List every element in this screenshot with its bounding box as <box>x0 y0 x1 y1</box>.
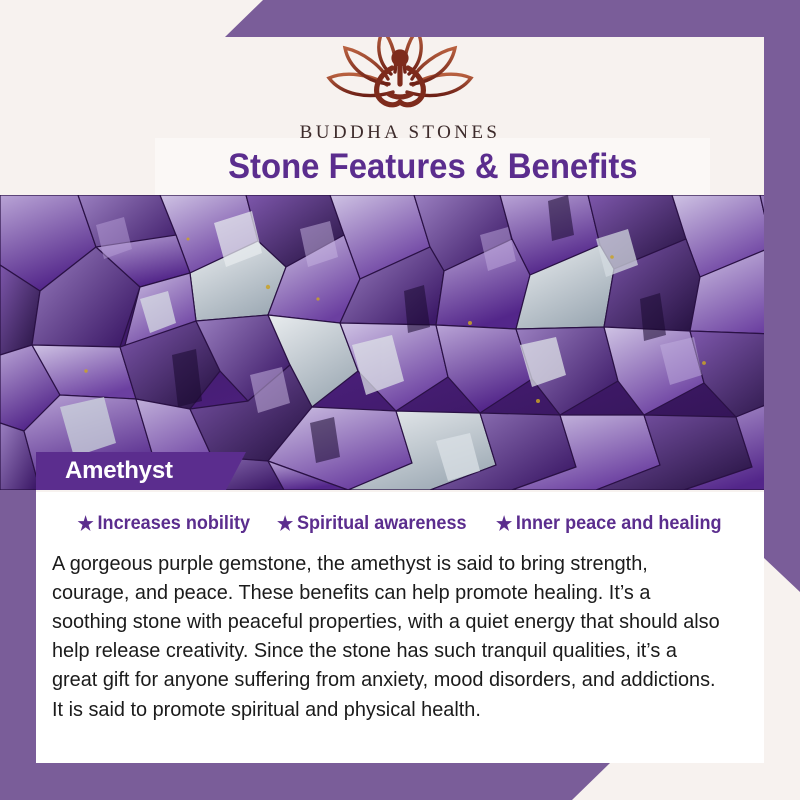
star-icon: ★ <box>496 515 512 534</box>
star-icon: ★ <box>77 515 93 534</box>
benefit-label-3: Inner peace and healing <box>516 513 722 535</box>
benefit-item-1: ★ Increases nobility <box>77 513 249 535</box>
content-area: ★ Increases nobility ★ Spiritual awarene… <box>36 492 764 763</box>
frame-band-top <box>225 0 800 37</box>
star-icon: ★ <box>277 515 293 534</box>
page-title: Stone Features & Benefits <box>228 147 638 187</box>
benefits-list: ★ Increases nobility ★ Spiritual awarene… <box>36 492 764 535</box>
benefit-label-1: Increases nobility <box>97 513 249 535</box>
amethyst-photo <box>0 195 800 490</box>
frame-band-bottom <box>0 763 610 800</box>
benefit-item-2: ★ Spiritual awareness <box>277 513 467 535</box>
benefit-item-3: ★ Inner peace and healing <box>496 513 722 535</box>
benefit-label-2: Spiritual awareness <box>297 513 467 535</box>
stone-name-banner: Amethyst <box>36 452 246 490</box>
amethyst-crystal-cluster-graphic <box>0 195 800 490</box>
title-banner: Stone Features & Benefits <box>155 138 710 195</box>
stone-features-infographic: BUDDHA STONES <box>0 0 800 800</box>
stone-description: A gorgeous purple gemstone, the amethyst… <box>52 549 725 724</box>
frame-band-right <box>764 0 800 592</box>
stone-name-label: Amethyst <box>65 457 173 485</box>
frame-band-left <box>0 490 36 800</box>
